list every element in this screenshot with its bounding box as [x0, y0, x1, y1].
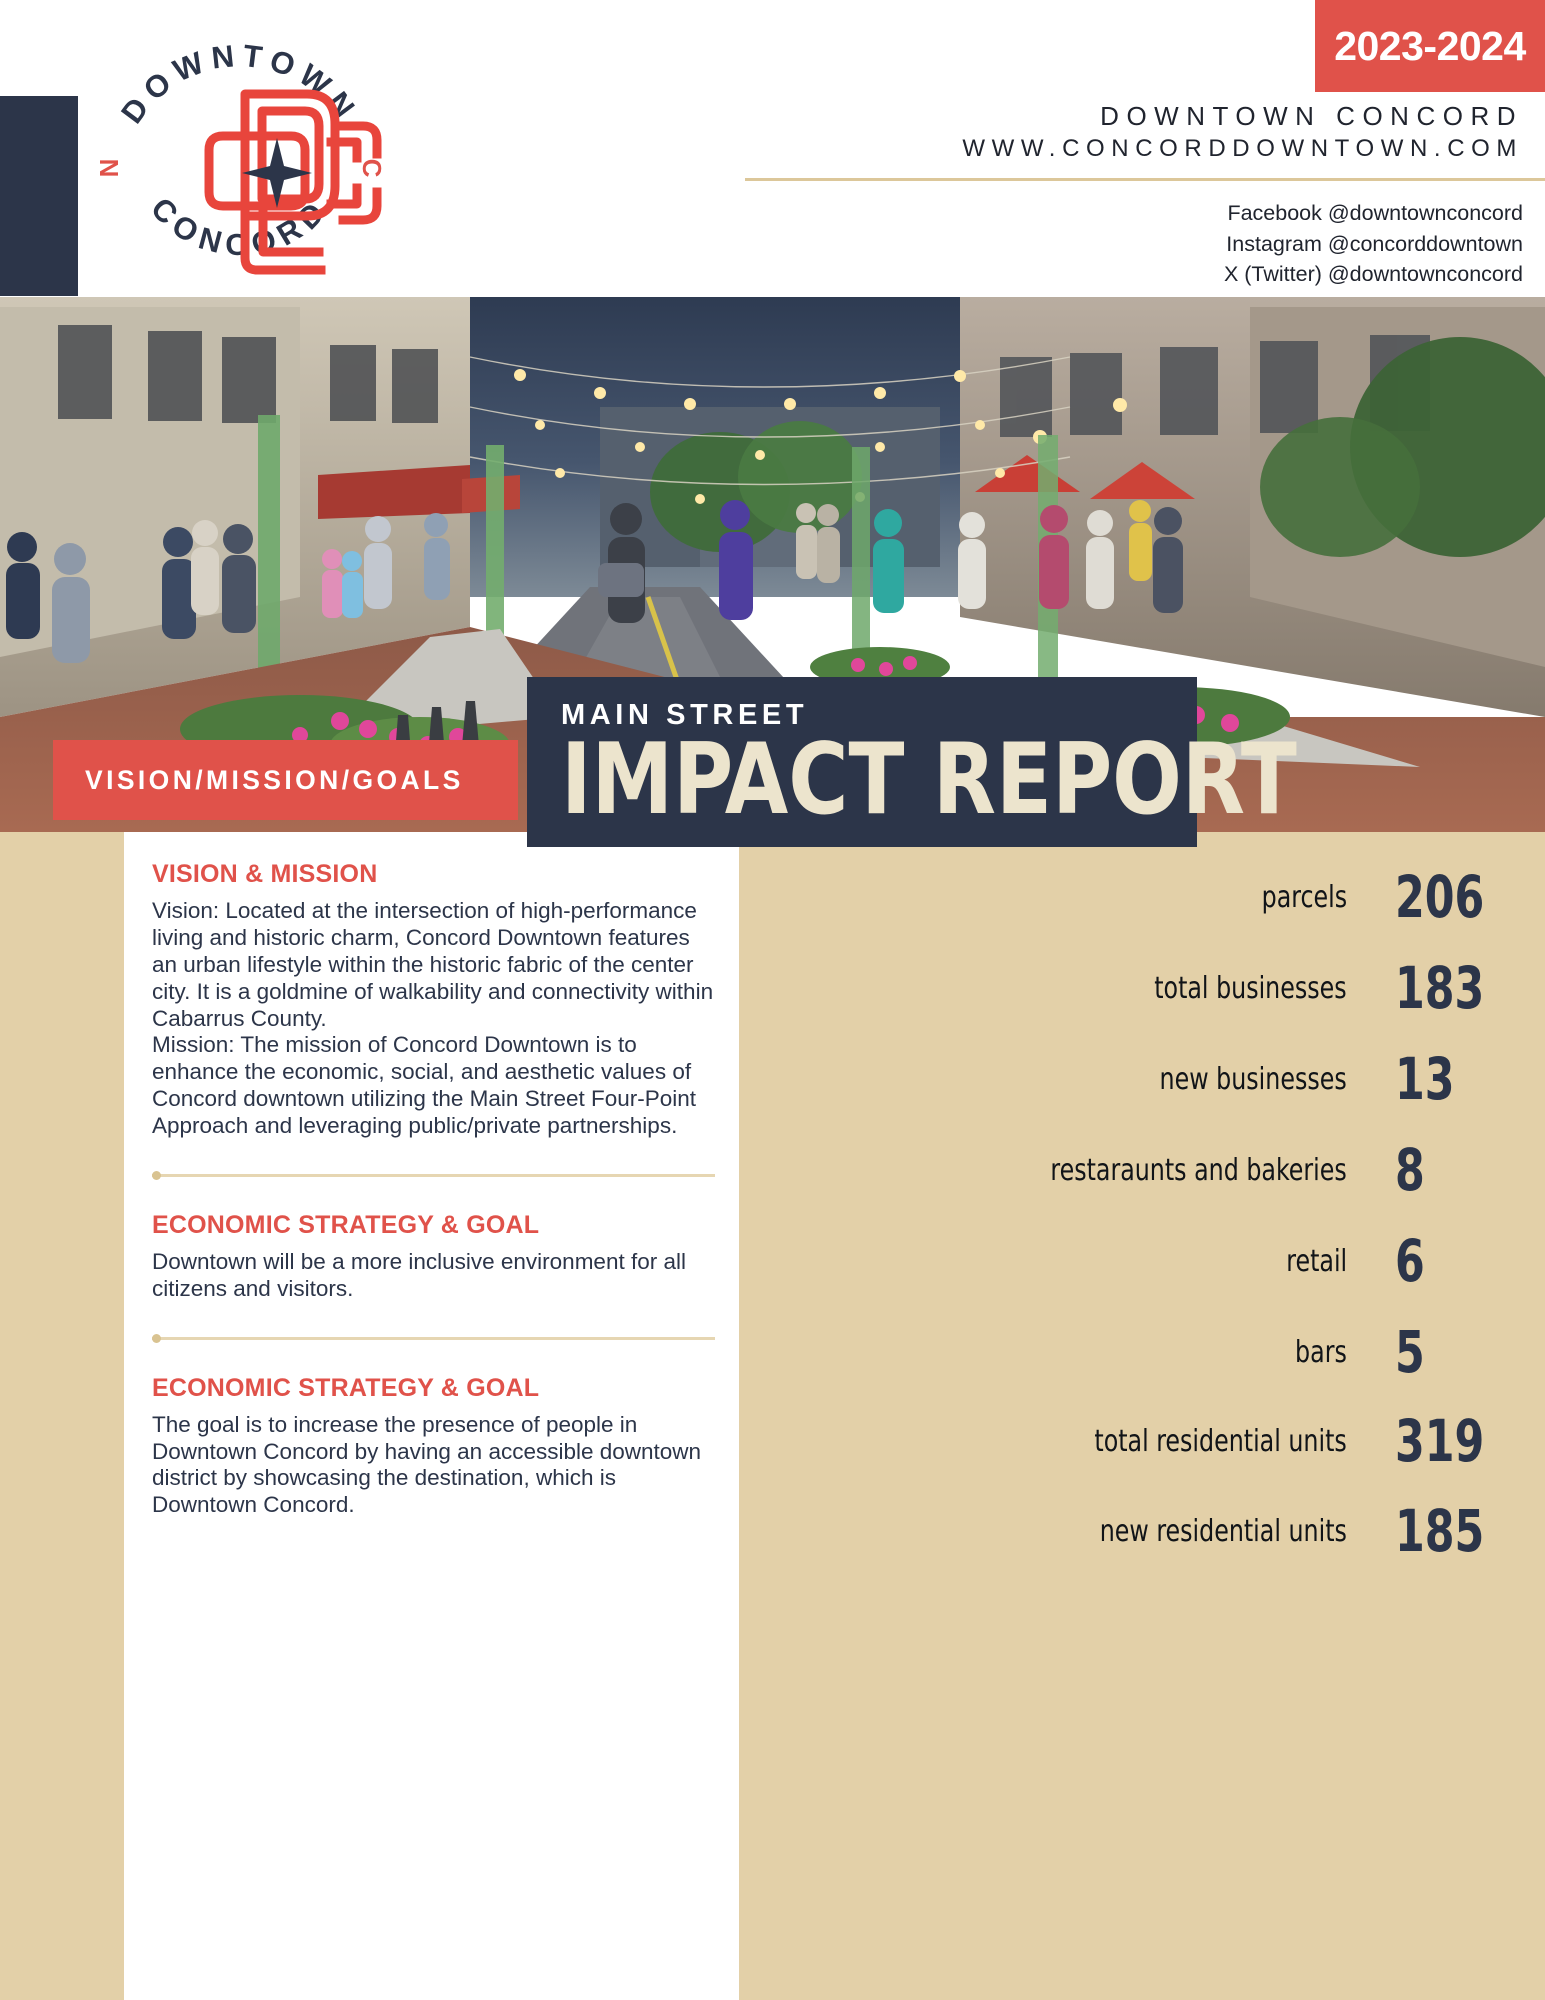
stat-row: new businesses 13 — [739, 1050, 1545, 1108]
section-economic-strategy-1: ECONOMIC STRATEGY & GOAL Downtown will b… — [138, 1211, 715, 1303]
stat-value: 13 — [1395, 1050, 1518, 1108]
stat-label: new businesses — [1160, 1062, 1347, 1097]
stat-label: restaraunts and bakeries — [1051, 1153, 1347, 1188]
page-title: IMPACT REPORT — [561, 734, 1152, 826]
section-vision-mission: VISION & MISSION Vision: Located at the … — [138, 860, 715, 1140]
report-title-block: MAIN STREET IMPACT REPORT — [527, 677, 1197, 847]
org-identity: DOWNTOWN CONCORD WWW.CONCORDDOWNTOWN.COM — [703, 100, 1523, 166]
section-body: Vision: Located at the intersection of h… — [152, 898, 715, 1140]
stat-label: retail — [1286, 1244, 1347, 1279]
stats-panel: parcels 206 total businesses 183 new bus… — [739, 832, 1545, 2000]
section-heading: VISION & MISSION — [152, 860, 715, 889]
stat-value: 8 — [1395, 1141, 1518, 1199]
vision-banner-label: VISION/MISSION/GOALS — [53, 765, 464, 796]
content-column: VISION & MISSION Vision: Located at the … — [124, 832, 739, 2000]
social-instagram[interactable]: Instagram @concorddowntown — [1224, 229, 1523, 260]
stat-row: restaraunts and bakeries 8 — [739, 1141, 1545, 1199]
stat-value: 206 — [1395, 868, 1518, 926]
navy-accent-block — [0, 96, 78, 296]
stat-row: bars 5 — [739, 1323, 1545, 1381]
section-economic-strategy-2: ECONOMIC STRATEGY & GOAL The goal is to … — [138, 1374, 715, 1520]
paragraph: Downtown will be a more inclusive enviro… — [152, 1249, 715, 1303]
social-facebook[interactable]: Facebook @downtownconcord — [1224, 198, 1523, 229]
stat-label: parcels — [1262, 880, 1347, 915]
section-divider — [152, 1337, 715, 1340]
paragraph: Vision: Located at the intersection of h… — [152, 898, 715, 1032]
header-divider — [745, 178, 1545, 181]
svg-text:DOWNTOWN: DOWNTOWN — [114, 38, 366, 130]
svg-text:N: N — [95, 159, 124, 178]
left-tan-rail — [96, 832, 124, 2000]
section-body: The goal is to increase the presence of … — [152, 1412, 715, 1520]
stat-label: new residential units — [1100, 1514, 1347, 1549]
page-header: DOWNTOWN CONCORD N C — [0, 0, 1545, 297]
section-heading: ECONOMIC STRATEGY & GOAL — [152, 1374, 715, 1403]
org-name: DOWNTOWN CONCORD — [703, 100, 1523, 133]
section-divider — [152, 1174, 715, 1177]
social-handles: Facebook @downtownconcord Instagram @con… — [1224, 198, 1523, 290]
social-twitter[interactable]: X (Twitter) @downtownconcord — [1224, 259, 1523, 290]
section-body: Downtown will be a more inclusive enviro… — [152, 1249, 715, 1303]
stat-label: total businesses — [1155, 971, 1347, 1006]
stat-value: 319 — [1395, 1412, 1518, 1470]
stat-value: 5 — [1395, 1323, 1518, 1381]
stat-row: retail 6 — [739, 1232, 1545, 1290]
paragraph: The goal is to increase the presence of … — [152, 1412, 715, 1520]
stat-value: 185 — [1395, 1502, 1518, 1560]
stat-row: parcels 206 — [739, 868, 1545, 926]
vision-mission-goals-banner: VISION/MISSION/GOALS — [53, 740, 518, 820]
year-badge: 2023-2024 — [1315, 0, 1545, 92]
paragraph: Mission: The mission of Concord Downtown… — [152, 1032, 715, 1140]
stat-value: 6 — [1395, 1232, 1518, 1290]
downtown-concord-logo: DOWNTOWN CONCORD N C — [95, 8, 385, 293]
stat-row: new residential units 185 — [739, 1502, 1545, 1560]
org-website[interactable]: WWW.CONCORDDOWNTOWN.COM — [703, 133, 1523, 165]
stat-value: 183 — [1395, 959, 1518, 1017]
stat-label: bars — [1295, 1335, 1347, 1370]
stat-label: total residential units — [1095, 1424, 1347, 1459]
stat-row: total businesses 183 — [739, 959, 1545, 1017]
stat-row: total residential units 319 — [739, 1412, 1545, 1470]
section-heading: ECONOMIC STRATEGY & GOAL — [152, 1211, 715, 1240]
